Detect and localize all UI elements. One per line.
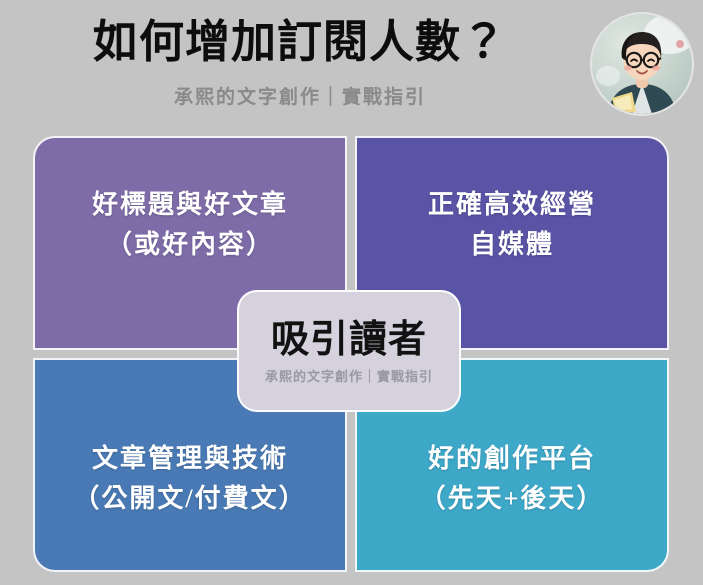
center-badge: 吸引讀者 承熙的文字創作｜實戰指引	[237, 290, 461, 412]
avatar	[592, 14, 692, 114]
quadrant-bottom-left-label: 文章管理與技術 （公開文/付費文）	[73, 439, 306, 519]
page-subtitle: 承熙的文字創作｜實戰指引	[0, 86, 600, 110]
center-badge-subtitle: 承熙的文字創作｜實戰指引	[265, 369, 433, 385]
avatar-illustration-icon	[592, 14, 692, 114]
page-title: 如何增加訂閱人數？	[0, 16, 600, 68]
quadrant-top-right-label: 正確高效經營 自媒體	[428, 185, 596, 265]
slide-canvas: { "header": { "title": "如何增加訂閱人數？", "sub…	[0, 0, 703, 585]
center-badge-title: 吸引讀者	[271, 317, 427, 361]
quadrant-top-left-label: 好標題與好文章 （或好內容）	[92, 185, 288, 265]
quadrant-bottom-right-label: 好的創作平台 （先天+後天）	[420, 439, 605, 519]
